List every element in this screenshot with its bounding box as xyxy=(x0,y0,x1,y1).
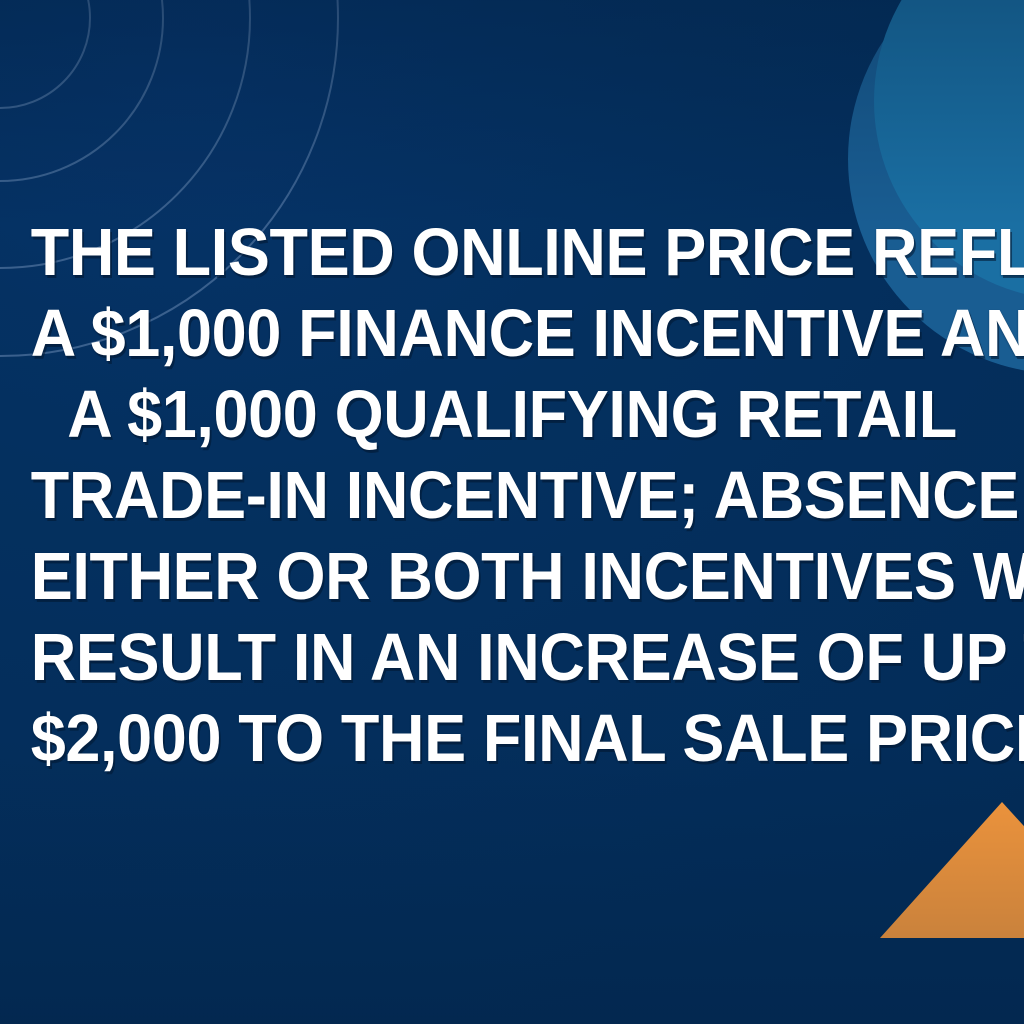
headline-line-3: A $1,000 QUALIFYING RETAIL xyxy=(31,374,994,455)
arc-ring-1 xyxy=(0,0,90,108)
headline-line-4: TRADE-IN INCENTIVE; ABSENCE OF xyxy=(31,455,994,536)
headline-line-2: A $1,000 FINANCE INCENTIVE AND xyxy=(31,293,994,374)
headline-line-5: EITHER OR BOTH INCENTIVES WILL xyxy=(31,536,994,617)
disclaimer-headline: THE LISTED ONLINE PRICE REFLECTS A $1,00… xyxy=(31,212,994,779)
headline-line-1: THE LISTED ONLINE PRICE REFLECTS xyxy=(31,212,994,293)
disclaimer-graphic: THE LISTED ONLINE PRICE REFLECTS A $1,00… xyxy=(0,0,1024,1024)
orange-triangle-decoration xyxy=(880,800,1024,938)
headline-line-7: $2,000 TO THE FINAL SALE PRICE. xyxy=(31,698,994,779)
arc-ring-2 xyxy=(0,0,163,181)
orange-triangle-shape xyxy=(880,802,1024,938)
headline-line-6: RESULT IN AN INCREASE OF UP TO xyxy=(31,617,994,698)
